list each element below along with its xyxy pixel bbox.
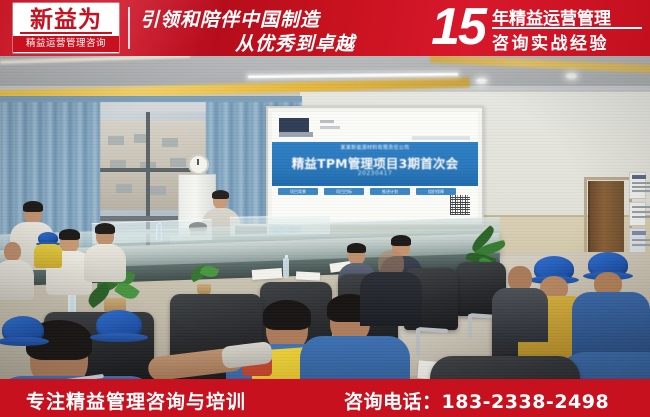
presenter-hair <box>212 190 229 199</box>
person-hair <box>391 235 411 246</box>
safety-helmet <box>2 316 44 344</box>
person-hair <box>59 229 80 240</box>
header-right-text: 年精益运营管理 咨询实战经验 <box>492 4 644 52</box>
header-slogan: 引领和陪伴中国制造 从优秀到卓越 <box>140 4 390 52</box>
table-glass-divider <box>230 215 330 236</box>
slide-chip-label: 组织保障 <box>416 188 456 195</box>
presentation-slide: 某某新能源材料有限责任公司 精益TPM管理项目3期首次会 20230417 项目… <box>272 112 478 220</box>
slide-logo-icon <box>279 118 309 132</box>
footer-left-text: 专注精益管理咨询与培训 <box>26 387 246 414</box>
slogan-line-1: 引领和陪伴中国制造 <box>140 5 320 32</box>
company-logo: 新益为 精益运营管理咨询 <box>13 3 119 53</box>
slide-date: 20230417 <box>272 170 478 177</box>
wall-clock-icon <box>188 154 209 175</box>
slide-meta-line <box>320 120 334 123</box>
slide-agenda-chips: 项目背景 项目目标 推进计划 组织保障 <box>276 188 474 196</box>
wall-poster <box>629 228 646 254</box>
slide-chip: 项目背景 <box>278 188 318 195</box>
slide-chip-label: 项目背景 <box>278 188 318 195</box>
logo-tagline-text: 精益运营管理咨询 <box>13 36 119 52</box>
person-body <box>492 288 548 342</box>
chair-leg <box>416 328 420 356</box>
slide-title-band: 某某新能源材料有限责任公司 精益TPM管理项目3期首次会 20230417 <box>272 142 478 186</box>
projection-screen: 某某新能源材料有限责任公司 精益TPM管理项目3期首次会 20230417 项目… <box>266 106 484 226</box>
years-number: 15 <box>414 0 502 56</box>
document-paper <box>252 268 283 280</box>
water-bottle <box>156 224 162 242</box>
water-bottle <box>283 258 289 278</box>
header-right-line-1: 年精益运营管理 <box>492 4 611 29</box>
logo-brand-text: 新益为 <box>16 5 116 35</box>
slide-chip-label: 项目目标 <box>324 188 364 195</box>
downlight-icon <box>476 78 487 84</box>
slide-chip: 组织保障 <box>416 188 456 195</box>
footer-banner: 专注精益管理咨询与培训 咨询电话：183-2338-2498 <box>0 379 650 417</box>
person-body <box>84 244 126 282</box>
slide-chip-label: 推进计划 <box>370 188 410 195</box>
slogan-line-2: 从优秀到卓越 <box>235 29 355 56</box>
safety-helmet <box>96 310 142 340</box>
person-hair <box>347 243 366 253</box>
downlight-icon <box>566 73 577 79</box>
person-body <box>0 260 34 300</box>
document-paper <box>296 271 320 280</box>
slide-chip: 推进计划 <box>370 188 410 195</box>
person-hair <box>95 223 115 234</box>
slide-faint-text <box>412 136 470 140</box>
person-body <box>360 272 422 326</box>
person-body <box>572 292 650 358</box>
wall-poster <box>629 172 646 199</box>
person-body <box>300 336 410 379</box>
chair-leg <box>468 314 472 338</box>
header-banner: 新益为 精益运营管理咨询 引领和陪伴中国制造 从优秀到卓越 15 年精益运营管理… <box>0 0 650 56</box>
person-hair <box>263 300 311 330</box>
slide-logo-subtext <box>279 132 313 137</box>
qr-code-icon <box>450 195 470 215</box>
curtain-rod <box>0 96 302 102</box>
person-hair <box>23 201 43 212</box>
office-chair[interactable] <box>430 356 580 379</box>
person-head <box>4 242 21 261</box>
slide-chip: 项目目标 <box>324 188 364 195</box>
footer-phone-text: 咨询电话：183-2338-2498 <box>344 387 609 414</box>
header-right-line-2: 咨询实战经验 <box>492 29 609 54</box>
slide-meta-line <box>320 126 340 129</box>
header-divider <box>128 7 130 49</box>
wall-poster <box>629 202 646 226</box>
slide-company-line: 某某新能源材料有限责任公司 <box>272 144 478 151</box>
meeting-photo: 某某新能源材料有限责任公司 精益TPM管理项目3期首次会 20230417 项目… <box>0 56 650 379</box>
hi-vis-vest <box>34 244 62 268</box>
promo-image: 新益为 精益运营管理咨询 引领和陪伴中国制造 从优秀到卓越 15 年精益运营管理… <box>0 0 650 417</box>
